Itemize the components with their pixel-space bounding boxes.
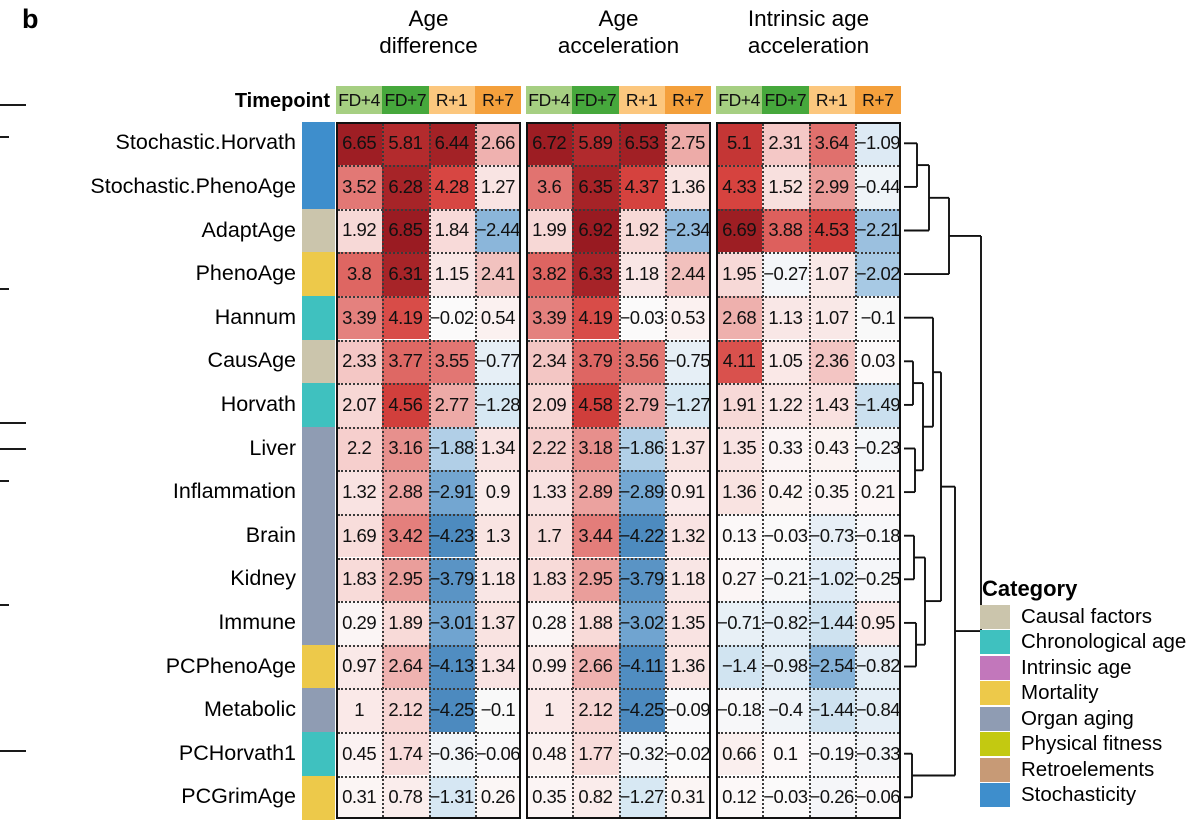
- heatmap-cell: 2.68: [716, 296, 762, 340]
- heatmap-cell-value: 0.26: [481, 786, 515, 808]
- heatmap-cell: 1.89: [382, 601, 428, 645]
- legend-label-3: Mortality: [1021, 683, 1098, 704]
- timepoint-cell-1-1: FD+7: [572, 86, 618, 114]
- heatmap-cell-value: 2.99: [815, 176, 849, 198]
- heatmap-cell: 1.13: [762, 296, 808, 340]
- heatmap-cell-value: 0.29: [342, 612, 376, 634]
- heatmap-cell: 0.43: [809, 427, 855, 471]
- heatmap-cell: 0.21: [855, 470, 901, 514]
- heatmap-cell-value: 2.33: [342, 350, 376, 372]
- heatmap-cell: 2.12: [382, 688, 428, 732]
- row-label-0: Stochastic.Horvath: [116, 132, 296, 154]
- heatmap-cell: 1.95: [716, 252, 762, 296]
- heatmap-cell-value: −1.09: [856, 132, 900, 154]
- grid-line-horizontal: [718, 645, 899, 647]
- heatmap-cell: 2.41: [475, 252, 521, 296]
- heatmap-cell-value: 1.36: [722, 481, 756, 503]
- legend-swatch-1: [980, 630, 1010, 654]
- heatmap-cell-value: −2.91: [429, 481, 473, 503]
- heatmap-cell-value: 6.31: [388, 263, 422, 285]
- heatmap-cell-value: 5.81: [388, 132, 422, 154]
- heatmap-cell-value: 1.36: [671, 655, 705, 677]
- heatmap-cell-value: 1.92: [342, 219, 376, 241]
- heatmap-cell-value: −0.03: [763, 786, 807, 808]
- heatmap-cell: −2.21: [855, 209, 901, 253]
- heatmap-cell: −4.23: [429, 514, 475, 558]
- grid-line-horizontal: [528, 252, 709, 254]
- grid-line-horizontal: [338, 601, 519, 603]
- heatmap-cell: −0.71: [716, 601, 762, 645]
- legend-label-2: Intrinsic age: [1021, 658, 1132, 679]
- heatmap-cell: 6.65: [336, 122, 382, 166]
- heatmap-cell-value: 1.07: [815, 307, 849, 329]
- heatmap-cell: −1.44: [809, 688, 855, 732]
- category-swatch-2: [302, 209, 335, 253]
- heatmap-cell: 4.28: [429, 165, 475, 209]
- heatmap-cell-value: 4.11: [723, 350, 756, 372]
- heatmap-cell: −0.03: [619, 296, 665, 340]
- heatmap-cell-value: 6.85: [388, 219, 422, 241]
- heatmap-cell: −0.4: [762, 688, 808, 732]
- heatmap-cell: −0.02: [665, 732, 711, 776]
- heatmap-cell-value: 1.07: [815, 263, 849, 285]
- heatmap-cell: −3.79: [429, 558, 475, 602]
- heatmap-cell-value: 0.9: [486, 481, 510, 503]
- heatmap-cell: −0.77: [475, 340, 521, 384]
- heatmap-cell: 3.39: [526, 296, 572, 340]
- heatmap-cell-value: 0.35: [815, 481, 849, 503]
- heatmap-cell-value: −0.32: [619, 743, 663, 765]
- heatmap-cell: 0.48: [526, 732, 572, 776]
- heatmap-cell-value: 0.54: [481, 307, 515, 329]
- heatmap-cell: 1.18: [619, 252, 665, 296]
- heatmap-cell: −3.02: [619, 601, 665, 645]
- heatmap-cell: −4.25: [429, 688, 475, 732]
- legend-label-0: Causal factors: [1021, 607, 1152, 628]
- row-label-13: Metabolic: [204, 699, 296, 721]
- heatmap-cell: 3.16: [382, 427, 428, 471]
- category-swatch-10: [302, 558, 335, 602]
- heatmap-cell-value: −1.88: [429, 437, 473, 459]
- heatmap-cell: 4.19: [572, 296, 618, 340]
- heatmap-cell: 0.31: [665, 776, 711, 820]
- heatmap-cell: −1.09: [855, 122, 901, 166]
- heatmap-cell-value: −0.18: [856, 525, 900, 547]
- legend-swatch-2: [980, 656, 1010, 680]
- grid-line-horizontal: [528, 209, 709, 211]
- heatmap-cell: 3.77: [382, 340, 428, 384]
- heatmap-cell: 1.34: [475, 645, 521, 689]
- heatmap-cell-value: 2.75: [671, 132, 705, 154]
- heatmap-cell: −3.01: [429, 601, 475, 645]
- heatmap-cell-value: 1: [354, 699, 364, 721]
- grid-line-horizontal: [338, 558, 519, 560]
- heatmap-cell: 2.07: [336, 383, 382, 427]
- category-swatch-14: [302, 732, 335, 776]
- heatmap-cell-value: 2.77: [435, 394, 469, 416]
- heatmap-cell: 2.12: [572, 688, 618, 732]
- grid-line-horizontal: [528, 165, 709, 167]
- heatmap-cell-value: 4.19: [388, 307, 422, 329]
- heatmap-cell-value: −2.21: [856, 219, 900, 241]
- grid-line-horizontal: [528, 340, 709, 342]
- legend-label-7: Stochasticity: [1021, 785, 1136, 806]
- heatmap-cell: −0.33: [855, 732, 901, 776]
- legend-label-4: Organ aging: [1021, 709, 1134, 730]
- heatmap-cell-value: 1.83: [532, 568, 566, 590]
- heatmap-cell-value: 1.3: [486, 525, 510, 547]
- legend-label-1: Chronological age: [1021, 632, 1186, 653]
- heatmap-cell-value: 1.36: [671, 176, 705, 198]
- heatmap-cell-value: −2.89: [619, 481, 663, 503]
- heatmap-cell: 3.88: [762, 209, 808, 253]
- grid-line-horizontal: [338, 427, 519, 429]
- heatmap-cell-value: 0.03: [861, 350, 895, 372]
- heatmap-cell: 3.52: [336, 165, 382, 209]
- heatmap-cell: 0.28: [526, 601, 572, 645]
- heatmap-cell-value: −1.44: [809, 699, 853, 721]
- heatmap-cell: −2.44: [475, 209, 521, 253]
- legend-item-4: Organ aging: [980, 706, 1186, 732]
- heatmap-cell-value: 0.33: [768, 437, 802, 459]
- heatmap-cell-value: 6.28: [388, 176, 422, 198]
- heatmap-cell: −4.11: [619, 645, 665, 689]
- heatmap-cell-value: 0.13: [722, 525, 756, 547]
- heatmap-cell-value: 1.37: [671, 437, 705, 459]
- heatmap-cell: −4.22: [619, 514, 665, 558]
- heatmap-cell: −0.82: [762, 601, 808, 645]
- heatmap-cell: 1.34: [475, 427, 521, 471]
- heatmap-cell-value: 0.35: [532, 786, 566, 808]
- heatmap-cell-value: −0.23: [856, 437, 900, 459]
- heatmap-cell: 1: [336, 688, 382, 732]
- heatmap-cell: −0.06: [475, 732, 521, 776]
- heatmap-cell-value: −1.28: [476, 394, 520, 416]
- timepoint-cell-2-3: R+7: [855, 86, 901, 114]
- heatmap-cell-value: 0.21: [861, 481, 895, 503]
- heatmap-cell-value: 0.66: [722, 743, 756, 765]
- heatmap-cell: −0.32: [619, 732, 665, 776]
- heatmap-cell-value: 4.33: [722, 176, 756, 198]
- heatmap-cell: 0.42: [762, 470, 808, 514]
- heatmap-cell-value: −0.71: [717, 612, 761, 634]
- heatmap-cell: 0.26: [475, 776, 521, 820]
- heatmap-cell: 3.55: [429, 340, 475, 384]
- heatmap-cell: 0.99: [526, 645, 572, 689]
- heatmap-cell: −4.13: [429, 645, 475, 689]
- heatmap-cell: −3.79: [619, 558, 665, 602]
- heatmap-cell: −0.73: [809, 514, 855, 558]
- heatmap-cell-value: −3.79: [429, 568, 473, 590]
- heatmap-cell-value: −1.49: [856, 394, 900, 416]
- heatmap-cell: 1.36: [665, 645, 711, 689]
- grid-line-horizontal: [718, 296, 899, 298]
- heatmap-cell: 1: [526, 688, 572, 732]
- heatmap-cell-value: −1.86: [619, 437, 663, 459]
- legend-swatch-7: [980, 783, 1010, 807]
- heatmap-cell-value: −2.34: [666, 219, 710, 241]
- heatmap-cell: −0.02: [429, 296, 475, 340]
- heatmap-cell: 1.32: [665, 514, 711, 558]
- heatmap-cell: 2.95: [572, 558, 618, 602]
- heatmap-cell: 1.18: [665, 558, 711, 602]
- heatmap-cell: 1.83: [336, 558, 382, 602]
- heatmap-cell: 6.28: [382, 165, 428, 209]
- heatmap-cell: −0.18: [855, 514, 901, 558]
- heatmap-cell-value: 2.66: [578, 655, 612, 677]
- row-label-6: Horvath: [221, 394, 296, 416]
- heatmap-cell: 2.22: [526, 427, 572, 471]
- heatmap-cell: 3.42: [382, 514, 428, 558]
- grid-line-horizontal: [338, 340, 519, 342]
- heatmap-block-0: 6.655.816.442.663.526.284.281.271.926.85…: [336, 122, 521, 820]
- grid-line-horizontal: [718, 688, 899, 690]
- heatmap-cell: 0.9: [475, 470, 521, 514]
- heatmap-cell-value: 0.42: [768, 481, 802, 503]
- heatmap-cell: 0.35: [526, 776, 572, 820]
- heatmap-cell-value: 3.44: [578, 525, 612, 547]
- heatmap-cell: 2.64: [382, 645, 428, 689]
- heatmap-cell: −2.89: [619, 470, 665, 514]
- heatmap-cell-value: 2.36: [815, 350, 849, 372]
- category-swatch-11: [302, 601, 335, 645]
- row-label-2: AdaptAge: [202, 220, 296, 242]
- grid-line-horizontal: [718, 514, 899, 516]
- heatmap-cell-value: −1.4: [722, 655, 757, 677]
- heatmap-cell-value: 2.41: [481, 263, 515, 285]
- heatmap-cell: 1.35: [716, 427, 762, 471]
- heatmap-cell: −1.44: [809, 601, 855, 645]
- grid-line-horizontal: [338, 209, 519, 211]
- heatmap-cell: −2.54: [809, 645, 855, 689]
- heatmap-cell-value: 6.72: [532, 132, 566, 154]
- heatmap-cell-value: −0.82: [856, 655, 900, 677]
- category-swatch-0: [302, 122, 335, 166]
- heatmap-cell-value: 0.31: [671, 786, 705, 808]
- heatmap-cell-value: −0.02: [429, 307, 473, 329]
- heatmap-cell-value: −1.44: [809, 612, 853, 634]
- legend-item-6: Retroelements: [980, 757, 1186, 783]
- category-swatch-8: [302, 470, 335, 514]
- legend-items: Causal factorsChronological ageIntrinsic…: [980, 604, 1186, 808]
- row-labels: Stochastic.HorvathStochastic.PhenoAgeAda…: [0, 0, 296, 825]
- heatmap-cell-value: −0.09: [666, 699, 710, 721]
- heatmap-cell: −0.75: [665, 340, 711, 384]
- heatmap-cell: 4.53: [809, 209, 855, 253]
- heatmap-cell: −0.03: [762, 776, 808, 820]
- heatmap-cell-value: 3.39: [342, 307, 376, 329]
- heatmap-cell: −0.44: [855, 165, 901, 209]
- heatmap-cell: −2.91: [429, 470, 475, 514]
- category-swatch-3: [302, 252, 335, 296]
- heatmap-cell-value: 2.12: [578, 699, 612, 721]
- legend-label-6: Retroelements: [1021, 760, 1154, 781]
- heatmap-cell-value: 1.27: [481, 176, 515, 198]
- heatmap-cell: −2.34: [665, 209, 711, 253]
- heatmap-cell: 6.85: [382, 209, 428, 253]
- heatmap-cell: −4.25: [619, 688, 665, 732]
- heatmap-cell-value: 3.52: [342, 176, 376, 198]
- category-swatch-9: [302, 514, 335, 558]
- heatmap-cell: 1.33: [526, 470, 572, 514]
- heatmap-cell: 0.97: [336, 645, 382, 689]
- heatmap-cell-value: −0.82: [763, 612, 807, 634]
- timepoint-cell-2-0: FD+4: [716, 86, 762, 114]
- heatmap-cell-value: −0.44: [856, 176, 900, 198]
- legend-item-7: Stochasticity: [980, 783, 1186, 809]
- heatmap-cell-value: −0.1: [481, 699, 516, 721]
- heatmap-cell-value: 2.66: [481, 132, 515, 154]
- heatmap-cell-value: −0.75: [666, 350, 710, 372]
- heatmap-cell-value: 1.84: [435, 219, 469, 241]
- heatmap-cell-value: 1.91: [722, 394, 756, 416]
- heatmap-cell-value: −0.33: [856, 743, 900, 765]
- heatmap-cell: −0.82: [855, 645, 901, 689]
- heatmap-cell-value: 0.82: [578, 786, 612, 808]
- heatmap-cell-value: 4.37: [625, 176, 659, 198]
- heatmap-cell-value: 1.35: [671, 612, 705, 634]
- row-label-7: Liver: [249, 438, 296, 460]
- heatmap-cell-value: −2.44: [476, 219, 520, 241]
- row-label-10: Kidney: [230, 568, 296, 590]
- heatmap-cell: −2.02: [855, 252, 901, 296]
- row-label-9: Brain: [246, 525, 296, 547]
- heatmap-cell-value: 1.35: [722, 437, 756, 459]
- heatmap-cell-value: 3.88: [768, 219, 802, 241]
- heatmap-cell-value: 1.92: [625, 219, 659, 241]
- heatmap-cell: 1.36: [665, 165, 711, 209]
- heatmap-cell-value: 1.18: [481, 568, 515, 590]
- heatmap-cell: 1.88: [572, 601, 618, 645]
- heatmap-cell: −0.19: [809, 732, 855, 776]
- category-legend: Category Causal factorsChronological age…: [980, 578, 1186, 808]
- legend-swatch-5: [980, 732, 1010, 756]
- grid-line-horizontal: [338, 514, 519, 516]
- heatmap-cell-value: 1.34: [481, 655, 515, 677]
- heatmap-cell: 1.3: [475, 514, 521, 558]
- heatmap-cell-value: −3.02: [619, 612, 663, 634]
- legend-item-2: Intrinsic age: [980, 655, 1186, 681]
- heatmap-cell: −1.88: [429, 427, 475, 471]
- heatmap-cell-value: 6.33: [578, 263, 612, 285]
- heatmap-cell-value: −0.21: [763, 568, 807, 590]
- heatmap-cell: 4.11: [716, 340, 762, 384]
- legend-item-1: Chronological age: [980, 630, 1186, 656]
- heatmap-cell: 1.77: [572, 732, 618, 776]
- timepoint-cell-1-3: R+7: [665, 86, 711, 114]
- heatmap-cell: 6.33: [572, 252, 618, 296]
- grid-line-horizontal: [718, 776, 899, 778]
- grid-line-horizontal: [338, 383, 519, 385]
- heatmap-cell-value: −1.31: [429, 786, 473, 808]
- heatmap-cell: −0.23: [855, 427, 901, 471]
- heatmap-cell-value: −0.03: [619, 307, 663, 329]
- heatmap-cell: 2.79: [619, 383, 665, 427]
- heatmap-cell-value: 0.43: [815, 437, 849, 459]
- heatmap-cell-value: −0.19: [809, 743, 853, 765]
- heatmap-cell: 1.99: [526, 209, 572, 253]
- grid-line-horizontal: [338, 688, 519, 690]
- heatmap-cell: −0.84: [855, 688, 901, 732]
- heatmap-cell: −1.4: [716, 645, 762, 689]
- heatmap-cell: 6.53: [619, 122, 665, 166]
- heatmap-cell-value: 1.74: [388, 743, 422, 765]
- heatmap-cell: 0.53: [665, 296, 711, 340]
- heatmap-cell: 1.43: [809, 383, 855, 427]
- heatmap-cell: −1.02: [809, 558, 855, 602]
- heatmap-cell: 1.22: [762, 383, 808, 427]
- heatmap-cell-value: −0.1: [861, 307, 896, 329]
- heatmap-cell: 2.09: [526, 383, 572, 427]
- heatmap-cell-value: 4.19: [578, 307, 612, 329]
- heatmap-cell-value: −0.18: [717, 699, 761, 721]
- row-label-11: Immune: [218, 612, 296, 634]
- heatmap-cell: −0.25: [855, 558, 901, 602]
- grid-line-horizontal: [718, 470, 899, 472]
- heatmap-cell-value: −4.13: [429, 655, 473, 677]
- grid-line-horizontal: [528, 470, 709, 472]
- figure-panel-b: b Age differenceAge accelerationIntrinsi…: [0, 0, 1200, 825]
- heatmap-cell: 6.44: [429, 122, 475, 166]
- legend-item-5: Physical fitness: [980, 732, 1186, 758]
- timepoint-cell-1-0: FD+4: [526, 86, 572, 114]
- row-label-15: PCGrimAge: [181, 786, 296, 808]
- heatmap-cell-value: 2.79: [625, 394, 659, 416]
- heatmap-cell-value: 2.22: [532, 437, 566, 459]
- legend-swatch-3: [980, 681, 1010, 705]
- grid-line-horizontal: [338, 732, 519, 734]
- heatmap-cell: 6.72: [526, 122, 572, 166]
- row-label-5: CausAge: [208, 350, 296, 372]
- heatmap-cell-value: 0.1: [773, 743, 797, 765]
- heatmap-cell: 3.39: [336, 296, 382, 340]
- row-label-14: PCHorvath1: [179, 743, 296, 765]
- heatmap-cell-value: 1.32: [671, 525, 705, 547]
- heatmap-cell-value: 6.65: [342, 132, 376, 154]
- heatmap-cell: 0.03: [855, 340, 901, 384]
- heatmap-cell: 1.92: [619, 209, 665, 253]
- grid-line-horizontal: [528, 383, 709, 385]
- timepoint-cell-2-2: R+1: [809, 86, 855, 114]
- heatmap-cell-value: 0.78: [388, 786, 422, 808]
- heatmap-cell-value: 3.16: [388, 437, 422, 459]
- heatmap-cell: 1.91: [716, 383, 762, 427]
- heatmap-cell-value: 0.99: [532, 655, 566, 677]
- heatmap-cell-value: 4.56: [388, 394, 422, 416]
- heatmap-cell: 4.33: [716, 165, 762, 209]
- heatmap-cell-value: −0.03: [763, 525, 807, 547]
- heatmap-cell-value: −0.26: [809, 786, 853, 808]
- heatmap-cell: 2.31: [762, 122, 808, 166]
- heatmap-cell: 2.36: [809, 340, 855, 384]
- heatmap-cell-value: 4.58: [578, 394, 612, 416]
- row-label-12: PCPhenoAge: [166, 656, 296, 678]
- timepoint-cell-0-2: R+1: [429, 86, 475, 114]
- heatmap-cell-value: −0.27: [763, 263, 807, 285]
- heatmap-cell-value: 1.37: [481, 612, 515, 634]
- heatmap-cell: −0.27: [762, 252, 808, 296]
- heatmap-cell: 1.18: [475, 558, 521, 602]
- heatmap-cell: 0.35: [809, 470, 855, 514]
- heatmap-cell-value: 0.97: [342, 655, 376, 677]
- grid-line-horizontal: [528, 776, 709, 778]
- heatmap-cell-value: 1.7: [537, 525, 561, 547]
- heatmap-cell: −1.31: [429, 776, 475, 820]
- heatmap-cell: 1.83: [526, 558, 572, 602]
- heatmap-cell: 2.99: [809, 165, 855, 209]
- heatmap-cell: −0.09: [665, 688, 711, 732]
- heatmap-cell: −0.03: [762, 514, 808, 558]
